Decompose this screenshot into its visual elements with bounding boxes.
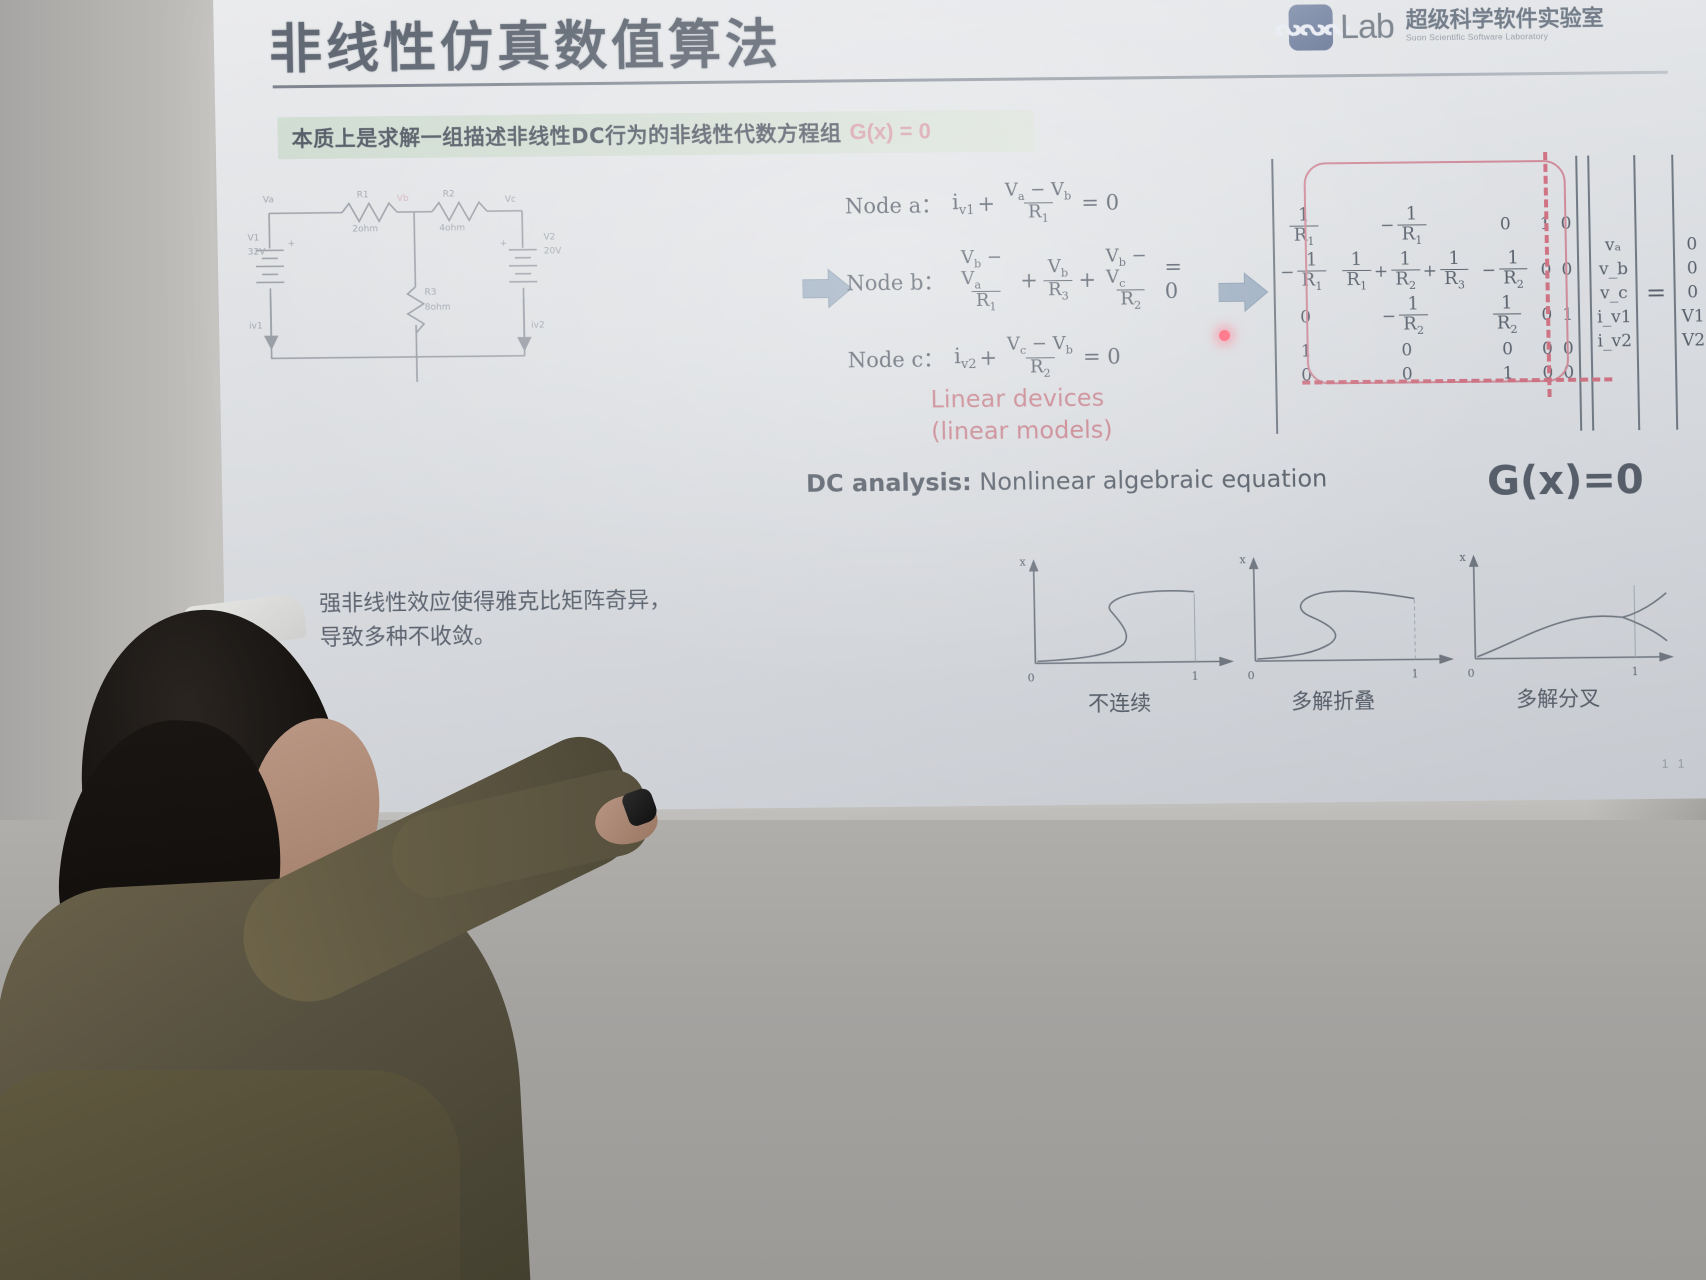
unknown-cell: v_b: [1591, 257, 1636, 281]
equation-node-c: Node c： iv2+ Vc − VbR2 = 0: [847, 334, 1198, 381]
unknown-cell: i_v1: [1592, 305, 1637, 329]
gx-result: G(x)=0: [1487, 457, 1644, 505]
svg-text:Va: Va: [263, 195, 274, 205]
svg-text:+: +: [288, 239, 296, 249]
circuit-diagram: Va R1 2ohm R2 4ohm Vc V1 32V V2 20V R3 8…: [246, 175, 570, 393]
node-b-label: Node b：: [846, 266, 945, 297]
svg-text:Vb: Vb: [397, 194, 409, 204]
node-a-label: Node a：: [845, 189, 943, 220]
svg-text:8ohm: 8ohm: [425, 303, 451, 313]
svg-text:iv1: iv1: [249, 321, 263, 331]
svg-text:Vc: Vc: [505, 195, 516, 205]
dc-analysis-text: Nonlinear algebraic equation: [971, 464, 1327, 496]
rhs-vector: 0 0 0 V1 V2: [1675, 232, 1706, 352]
rhs-cell: 0: [1675, 232, 1706, 256]
arrow-right-icon-2: [1218, 271, 1269, 319]
svg-text:0: 0: [1028, 671, 1035, 684]
svg-text:+: +: [500, 239, 508, 249]
svg-text:2ohm: 2ohm: [352, 224, 378, 234]
unknown-vector: vₐ v_b v_c i_v1 i_v2: [1591, 233, 1638, 353]
linear-devices-note: Linear devices (linear models): [930, 383, 1113, 448]
svg-text:1: 1: [1632, 665, 1639, 678]
svg-text:0: 0: [1468, 667, 1475, 680]
presenter-lower-body: [0, 1070, 460, 1280]
unknown-cell: vₐ: [1591, 233, 1636, 257]
svg-text:32V: 32V: [248, 247, 267, 257]
linear-block-highlight: [1303, 160, 1569, 385]
svg-text:1: 1: [1412, 667, 1419, 680]
rhs-cell: 0: [1676, 256, 1706, 280]
node-equations: Node a： iv1+ Va − VbR1 = 0 Node b： Vb − …: [845, 180, 1199, 405]
equation-node-a: Node a： iv1+ Va − VbR1 = 0: [845, 180, 1196, 227]
node-c-label: Node c：: [848, 344, 945, 375]
svg-text:V2: V2: [543, 232, 555, 242]
svg-text:R2: R2: [443, 189, 455, 199]
svg-text:iv2: iv2: [531, 321, 545, 331]
logo-cn-name: 超级科学软件实验室: [1405, 9, 1603, 34]
logo-en-name: Suon Scientific Software Laboratory: [1406, 31, 1604, 42]
svg-text:V1: V1: [247, 234, 259, 244]
banner-equation: G(x) = 0: [849, 118, 931, 145]
svg-text:0: 0: [1248, 669, 1255, 682]
svg-text:R1: R1: [357, 190, 369, 200]
rhs-cell: V2: [1677, 328, 1706, 352]
rhs-cell: 0: [1676, 280, 1706, 304]
lightning-logo-icon: ᔓᔓᔓ: [1289, 4, 1334, 50]
equation-node-b: Node b： Vb − VaR1 + VbR3 + Vb − VcR2 = 0: [846, 246, 1197, 315]
svg-text:R3: R3: [424, 288, 436, 298]
equals-sign: =: [1646, 278, 1667, 306]
rhs-cell: V1: [1676, 304, 1706, 328]
linear-devices-line2: (linear models): [931, 414, 1113, 448]
plot-caption-2: 多解折叠: [1291, 685, 1376, 716]
lab-logo: ᔓᔓᔓ Lab 超级科学软件实验室 Suon Scientific Softwa…: [1289, 1, 1605, 50]
plot-caption-3: 多解分叉: [1516, 682, 1601, 713]
presenter: [0, 600, 720, 1280]
logo-lab-text: Lab: [1340, 7, 1394, 47]
linear-devices-line1: Linear devices: [930, 383, 1112, 417]
svg-text:20V: 20V: [544, 246, 563, 256]
banner-text: 本质上是求解一组描述非线性DC行为的非线性代数方程组: [291, 117, 841, 153]
plot-caption-1: 不连续: [1088, 687, 1152, 718]
dc-analysis-line: DC analysis: Nonlinear algebraic equatio…: [806, 464, 1328, 497]
unknown-cell: v_c: [1592, 281, 1637, 305]
svg-text:4ohm: 4ohm: [439, 223, 465, 233]
dc-analysis-label: DC analysis:: [806, 468, 972, 498]
page-number: 1 1: [1662, 757, 1688, 771]
plot1-ylabel: x: [1019, 555, 1026, 568]
unknown-cell: i_v2: [1592, 329, 1637, 353]
svg-text:1: 1: [1192, 670, 1199, 683]
convergence-failure-plots: x x x 01 01 01 不连续 多解折叠 多解分叉: [1013, 549, 1676, 721]
slide-title: 非线性仿真数值算法: [268, 2, 782, 83]
laser-pointer-dot: [1219, 330, 1230, 341]
plot3-ylabel: x: [1459, 551, 1466, 564]
plot2-ylabel: x: [1239, 553, 1246, 566]
green-banner: 本质上是求解一组描述非线性DC行为的非线性代数方程组 G(x) = 0: [277, 109, 1035, 159]
lecture-room-photo: 非线性仿真数值算法 ᔓᔓᔓ Lab 超级科学软件实验室 Suon Scienti…: [0, 0, 1706, 1280]
